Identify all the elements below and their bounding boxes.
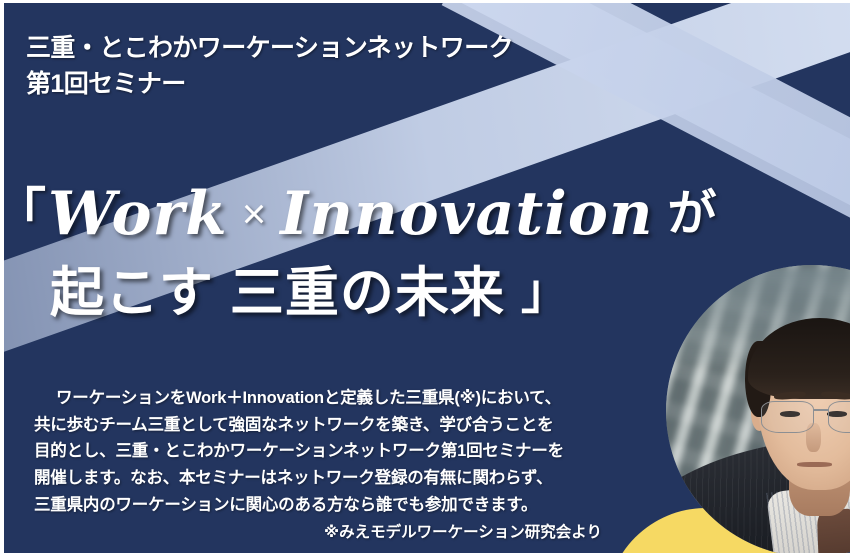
glasses-lens-left <box>761 401 814 433</box>
quote-open-bracket: 「 <box>4 188 46 240</box>
poster-header: 三重・とこわかワーケーションネットワーク 第1回セミナー <box>26 31 586 102</box>
body-line: 目的とし、三重・とこわかワーケーションネットワーク第1回セミナーを <box>34 438 614 465</box>
glasses-bridge <box>814 409 828 411</box>
poster-headline: 「 Work × Innovation が 起こす 三重の未来 」 <box>4 173 704 331</box>
glasses-lens-right <box>828 401 850 433</box>
bottom-white-strip <box>0 553 850 560</box>
speaker-portrait <box>666 265 850 553</box>
portrait-mouth <box>797 462 832 467</box>
seminar-poster: 三重・とこわかワーケーションネットワーク 第1回セミナー 「 Work × In… <box>0 0 850 560</box>
body-credit-source: ※みえモデルワーケーション研究会より <box>34 521 614 544</box>
poster-background-panel: 三重・とこわかワーケーションネットワーク 第1回セミナー 「 Work × In… <box>4 3 850 553</box>
portrait-nose <box>806 423 821 452</box>
headline-japanese-text: 起こす 三重の未来 <box>50 266 505 320</box>
body-line: ワーケーションをWork＋Innovationと定義した三重県(※)において、 <box>34 385 614 412</box>
poster-body-copy: ワーケーションをWork＋Innovationと定義した三重県(※)において、 … <box>34 385 614 544</box>
headline-row-japanese: 起こす 三重の未来 」 <box>4 255 704 331</box>
header-line-seminar: 第1回セミナー <box>26 67 586 103</box>
body-line: 開催します。なお、本セミナーはネットワーク登録の有無に関わらず、 <box>34 465 614 492</box>
portrait-photo-image <box>666 265 850 553</box>
headline-word-innovation: Innovation <box>280 184 653 244</box>
body-line: 三重県内のワーケーションに関心のある方なら誰でも参加できます。 <box>34 492 614 519</box>
body-line: 共に歩むチーム三重として強固なネットワークを築き、学び合うことを <box>34 412 614 439</box>
headline-particle-ga: が <box>667 190 716 239</box>
quote-close-bracket: 」 <box>521 269 569 317</box>
headline-row-english: 「 Work × Innovation が <box>4 173 704 255</box>
multiply-icon: × <box>242 193 267 235</box>
headline-word-work: Work <box>48 184 228 244</box>
glasses-icon <box>761 401 850 433</box>
header-line-network: 三重・とこわかワーケーションネットワーク <box>26 31 586 67</box>
